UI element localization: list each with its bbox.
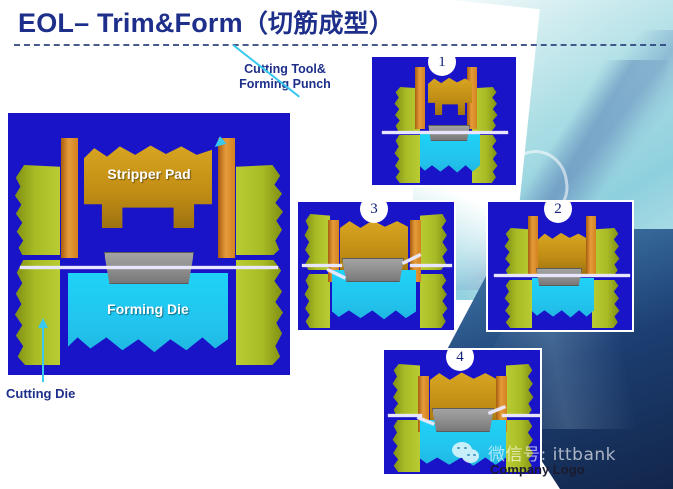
cutting-die-left-lower xyxy=(394,135,420,183)
cutting-die-left-upper xyxy=(14,165,60,255)
cutting-die-left-lower xyxy=(504,280,532,328)
step-number-badge: 2 xyxy=(544,200,572,223)
forming-die-label: Forming Die xyxy=(78,301,218,317)
step-number: 3 xyxy=(370,201,378,218)
page-title: EOL– Trim&Form（切筋成型） xyxy=(18,4,394,40)
forming-punch-right xyxy=(218,138,235,258)
lead-frame-part xyxy=(342,258,404,282)
step-number: 4 xyxy=(456,349,464,366)
step-panel-3[interactable]: 3 xyxy=(296,200,456,332)
step-panel-1[interactable]: 1 xyxy=(370,55,518,187)
forming-punch-left xyxy=(415,67,425,129)
title-divider xyxy=(14,44,666,46)
step-panel-2[interactable]: 2 xyxy=(486,200,634,332)
cutting-die-right-lower xyxy=(592,280,620,328)
step-number-badge: 4 xyxy=(446,348,474,371)
company-logo-text: Company Logo xyxy=(490,462,585,477)
cutting-die-right-lower xyxy=(236,260,284,365)
stripper-pad-shape xyxy=(538,232,586,274)
page-title-en: EOL– Trim&Form xyxy=(18,8,243,38)
callout-cutting-tool-arrow xyxy=(216,96,282,148)
lead-frame-strip-right xyxy=(502,414,540,417)
main-cross-section-panel: Stripper Pad Forming Die xyxy=(8,113,290,375)
lead-frame-part xyxy=(432,408,494,432)
forming-punch-left xyxy=(528,216,538,274)
lead-frame-strip xyxy=(20,266,278,269)
lead-frame-part xyxy=(536,268,582,286)
cutting-die-right-lower xyxy=(420,274,448,328)
page-title-cn: （切筋成型） xyxy=(243,9,394,38)
cutting-die-left-upper xyxy=(304,214,330,270)
callout-cutting-die: Cutting Die xyxy=(6,386,116,401)
wechat-eye-3 xyxy=(467,454,470,457)
cutting-die-right-upper xyxy=(506,364,534,416)
wechat-icon xyxy=(452,442,482,464)
step-number-badge: 1 xyxy=(428,55,456,76)
wechat-eye-1 xyxy=(457,447,460,450)
step-number: 1 xyxy=(438,55,446,71)
stripper-pad-shape xyxy=(428,77,472,115)
stripper-pad-label: Stripper Pad xyxy=(94,166,204,182)
cutting-die-left-lower xyxy=(14,260,60,365)
slide-canvas: EOL– Trim&Form（切筋成型） Stripper Pad Formin… xyxy=(0,0,673,489)
lead-frame-strip-right xyxy=(410,264,452,267)
cutting-die-right-upper xyxy=(592,228,620,276)
lead-frame-strip-left xyxy=(302,264,342,267)
stripper-pad-shape xyxy=(84,143,212,228)
wechat-bubble-small xyxy=(462,449,479,463)
callout-cutting-die-arrow xyxy=(38,318,48,382)
forming-punch-left xyxy=(61,138,78,258)
forming-punch-right xyxy=(586,216,596,274)
cutting-die-right-upper xyxy=(236,165,284,255)
lead-frame-strip xyxy=(494,274,630,277)
cutting-die-left-lower xyxy=(304,274,330,328)
step-number-badge: 3 xyxy=(360,200,388,223)
cutting-die-right-upper xyxy=(420,214,448,270)
wechat-eye-2 xyxy=(464,447,467,450)
lead-frame-strip xyxy=(382,131,508,134)
wechat-eye-4 xyxy=(473,454,476,457)
forming-die-shape xyxy=(68,273,228,365)
cutting-die-left-upper xyxy=(392,364,420,416)
cutting-die-left-lower xyxy=(392,420,420,472)
callout-cutting-tool-line1: Cutting Tool& xyxy=(220,62,350,77)
step-number: 2 xyxy=(554,201,562,218)
